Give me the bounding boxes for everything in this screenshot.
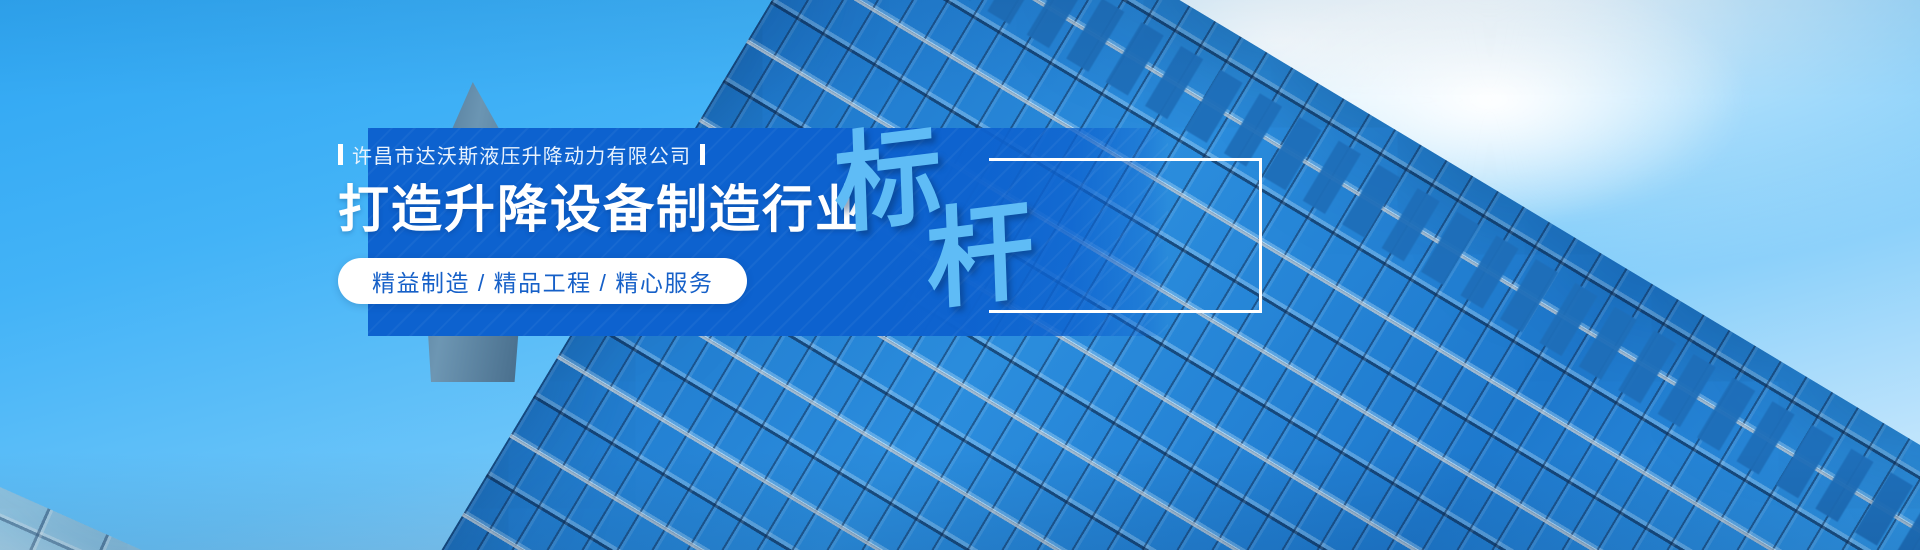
company-name-label: 许昌市达沃斯液压升降动力有限公司 bbox=[352, 140, 691, 169]
eyebrow-bar-right-icon bbox=[700, 144, 705, 165]
tagline-pill[interactable]: 精益制造 / 精品工程 / 精心服务 bbox=[338, 258, 747, 304]
eyebrow-bar-left-icon bbox=[338, 144, 343, 165]
bracket-frame-icon bbox=[992, 158, 1262, 313]
hero-banner: 许昌市达沃斯液压升降动力有限公司 打造升降设备制造行业 精益制造 / 精品工程 … bbox=[0, 0, 1920, 550]
calligraphy-char-1: 标 bbox=[833, 121, 944, 243]
benchmark-mark: 标 杆 bbox=[800, 120, 1280, 340]
